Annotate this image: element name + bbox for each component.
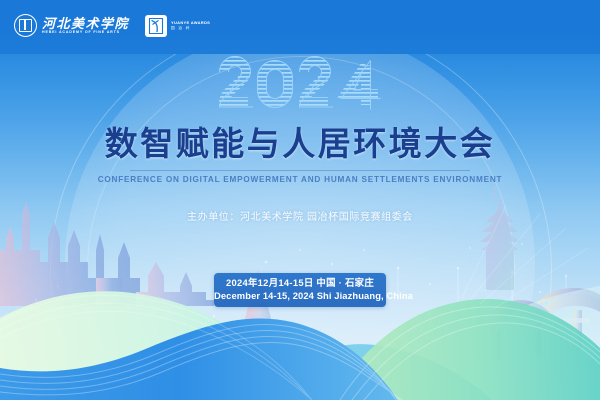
logo-hebei-academy[interactable]: 河北美术学院 HEBEI ACADEMY OF FINE ARTS: [14, 14, 129, 37]
title-divider: [130, 170, 470, 171]
page-subtitle-en: CONFERENCE ON DIGITAL EMPOWERMENT AND HU…: [0, 175, 600, 184]
yuanye-award-mark-icon: [145, 15, 167, 37]
conference-banner: 河北美术学院 HEBEI ACADEMY OF FINE ARTS YUANYE…: [0, 0, 600, 400]
yuanye-award-name-en: YUANYE AWARDS: [171, 21, 210, 26]
hebei-academy-seal-icon: [14, 14, 37, 37]
event-date-cn: 2024年12月14-15日 中国 · 石家庄: [214, 277, 386, 290]
page-title: 数智赋能与人居环境大会: [0, 125, 600, 164]
hebei-academy-name-cn: 河北美术学院: [42, 17, 129, 30]
event-date-en: December 14-15, 2024 Shi Jiazhuang, Chin…: [214, 290, 386, 303]
logo-group: 河北美术学院 HEBEI ACADEMY OF FINE ARTS YUANYE…: [14, 14, 210, 37]
hebei-academy-name-en: HEBEI ACADEMY OF FINE ARTS: [42, 31, 129, 35]
organizer-line: 主办单位：河北美术学院 园冶杯国际竞赛组委会: [0, 208, 600, 223]
logo-yuanye-award[interactable]: YUANYE AWARDS 园 冶 杯: [145, 15, 210, 37]
yuanye-award-name-cn: 园 冶 杯: [171, 27, 210, 31]
event-date-badge: 2024年12月14-15日 中国 · 石家庄 December 14-15, …: [214, 273, 386, 307]
year-2024: [0, 54, 600, 116]
